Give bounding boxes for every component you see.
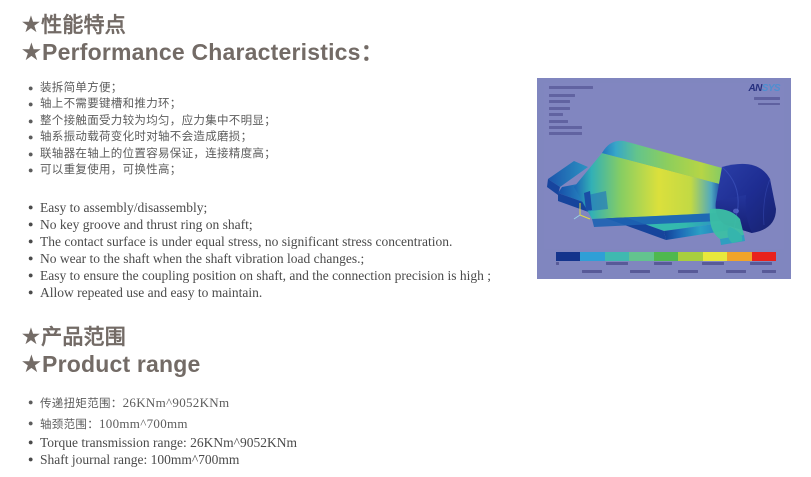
list-item-label: 传递扭矩范围：: [40, 398, 123, 410]
legend-band-2: [580, 252, 604, 261]
legend-band-8: [727, 252, 751, 261]
product-range-heading-block: ★产品范围 ★Product range: [22, 326, 201, 378]
legend-band-4: [629, 252, 653, 261]
performance-features-en-list: ●Easy to assembly/disassembly; ●No key g…: [28, 199, 491, 301]
performance-heading-cn: ★性能特点: [22, 14, 384, 39]
list-item-label: The contact surface is under equal stres…: [40, 234, 452, 249]
star-icon: ★: [22, 14, 40, 36]
bullet-dot-icon: ●: [28, 414, 34, 433]
list-item: ●轴颈范围：100mm^700mm: [28, 414, 229, 435]
list-item-label: No wear to the shaft when the shaft vibr…: [40, 251, 364, 266]
bullet-dot-icon: ●: [28, 96, 34, 112]
list-item: ●轴系振动载荷变化时对轴不会造成磨损；: [28, 129, 276, 145]
product-range-heading-en: ★Product range: [22, 351, 201, 378]
list-item-label: 轴上不需要键槽和推力环；: [40, 98, 182, 110]
product-range-cn-list: ●传递扭矩范围：26KNm^9052KNm ●轴颈范围：100mm^700mm: [28, 393, 229, 435]
performance-features-cn-list: ●装拆简单方便； ●轴上不需要键槽和推力环； ●整个接触面受力较为均匀，应力集中…: [28, 80, 276, 178]
list-item-label: Allow repeated use and easy to maintain.: [40, 285, 262, 300]
legend-band-1: [556, 252, 580, 261]
product-range-heading-cn: ★产品范围: [22, 326, 201, 351]
legend-tick-row-lower: [556, 270, 776, 277]
legend-band-5: [654, 252, 678, 261]
ansys-stress-analysis-figure: ANSYS: [537, 78, 791, 279]
product-range-heading-en-text: Product range: [42, 351, 201, 377]
bullet-dot-icon: ●: [28, 113, 34, 129]
bullet-dot-icon: ●: [28, 393, 34, 412]
list-item: ●Allow repeated use and easy to maintain…: [28, 284, 491, 301]
list-item-label: 联轴器在轴上的位置容易保证，连接精度高；: [40, 148, 276, 160]
list-item: ●联轴器在轴上的位置容易保证，连接精度高；: [28, 146, 276, 162]
bullet-dot-icon: ●: [28, 162, 34, 178]
list-item-label: No key groove and thrust ring on shaft;: [40, 217, 253, 232]
legend-band-7: [703, 252, 727, 261]
list-item-label: 装拆简单方便；: [40, 82, 123, 94]
bullet-dot-icon: ●: [28, 233, 33, 250]
list-item-label: 轴颈范围：: [40, 419, 99, 431]
star-icon: ★: [22, 353, 41, 376]
list-item: ●传递扭矩范围：26KNm^9052KNm: [28, 393, 229, 414]
legend-band-6: [678, 252, 702, 261]
bullet-dot-icon: ●: [28, 129, 34, 145]
list-item-label: Easy to ensure the coupling position on …: [40, 268, 491, 283]
fea-stress-legend: [556, 252, 776, 277]
bullet-dot-icon: ●: [28, 267, 33, 284]
legend-band-3: [605, 252, 629, 261]
list-item: ●The contact surface is under equal stre…: [28, 233, 491, 250]
list-item-label: Shaft journal range: 100mm^700mm: [40, 452, 239, 467]
list-item: ●Torque transmission range: 26KNm^9052KN…: [28, 434, 297, 451]
legend-tick-row-upper: [556, 262, 776, 269]
list-item: ●Shaft journal range: 100mm^700mm: [28, 451, 297, 468]
list-item-value: 100mm^700mm: [99, 416, 188, 431]
list-item: ●No wear to the shaft when the shaft vib…: [28, 250, 491, 267]
bullet-dot-icon: ●: [28, 80, 34, 96]
list-item: ●No key groove and thrust ring on shaft;: [28, 216, 491, 233]
list-item: ●Easy to ensure the coupling position on…: [28, 267, 491, 284]
bullet-dot-icon: ●: [28, 146, 34, 162]
list-item-label: 可以重复使用，可换性高；: [40, 164, 182, 176]
legend-color-bar: [556, 252, 776, 261]
list-item: ●Easy to assembly/disassembly;: [28, 199, 491, 216]
list-item: ●装拆简单方便；: [28, 80, 276, 96]
performance-heading-cn-text: 性能特点: [41, 14, 126, 37]
bullet-dot-icon: ●: [28, 284, 33, 301]
fea-viewport: ANSYS: [544, 83, 784, 249]
product-range-heading-cn-text: 产品范围: [41, 326, 126, 349]
list-item-label: Torque transmission range: 26KNm^9052KNm: [40, 435, 297, 450]
list-item: ●轴上不需要键槽和推力环；: [28, 96, 276, 112]
performance-heading-en: ★Performance Characteristics：: [22, 39, 384, 66]
performance-heading-en-text: Performance Characteristics：: [42, 39, 384, 65]
coupling-model-3d: [544, 83, 784, 249]
list-item-value: 26KNm^9052KNm: [123, 395, 230, 410]
bullet-dot-icon: ●: [28, 216, 33, 233]
bullet-dot-icon: ●: [28, 250, 33, 267]
list-item-label: 轴系振动载荷变化时对轴不会造成磨损；: [40, 131, 252, 143]
bullet-dot-icon: ●: [28, 199, 33, 216]
product-range-en-list: ●Torque transmission range: 26KNm^9052KN…: [28, 434, 297, 468]
bullet-dot-icon: ●: [28, 451, 33, 468]
bullet-dot-icon: ●: [28, 434, 33, 451]
list-item-label: Easy to assembly/disassembly;: [40, 200, 207, 215]
legend-band-9: [752, 252, 776, 261]
star-icon: ★: [22, 41, 41, 64]
performance-heading-block: ★性能特点 ★Performance Characteristics：: [22, 14, 384, 66]
list-item-label: 整个接触面受力较为均匀，应力集中不明显；: [40, 115, 276, 127]
list-item: ●整个接触面受力较为均匀，应力集中不明显；: [28, 113, 276, 129]
list-item: ●可以重复使用，可换性高；: [28, 162, 276, 178]
star-icon: ★: [22, 326, 40, 348]
